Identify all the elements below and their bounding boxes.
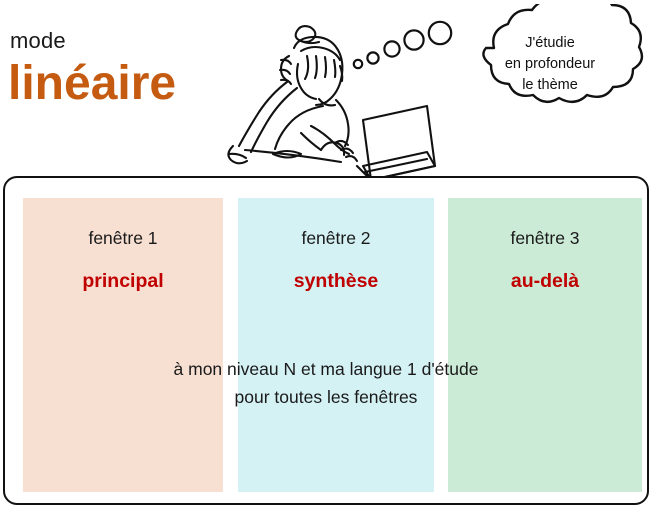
window-panel-3[interactable]: fenêtre 3 au-delà (448, 198, 642, 492)
thought-bubble-text: J'étudie en profondeur le thème (470, 33, 630, 96)
window-panel-2-label: fenêtre 2 (238, 230, 434, 248)
thought-line-2: en profondeur (470, 54, 630, 75)
window-panel-3-label: fenêtre 3 (448, 230, 642, 248)
header: mode linéaire (0, 0, 659, 176)
thought-line-1: J'étudie (470, 33, 630, 54)
thought-line-3: le thème (470, 75, 630, 96)
window-panel-3-value: au-delà (448, 272, 642, 292)
window-panel-1-label: fenêtre 1 (23, 230, 223, 248)
window-panel-1[interactable]: fenêtre 1 principal (23, 198, 223, 492)
page-eyebrow-label: mode (10, 30, 66, 52)
window-panel-1-value: principal (23, 272, 223, 292)
window-panel-2[interactable]: fenêtre 2 synthèse (238, 198, 434, 492)
windows-container: fenêtre 1 principal fenêtre 2 synthèse f… (3, 176, 649, 505)
page-title: linéaire (8, 60, 176, 108)
window-panel-2-value: synthèse (238, 272, 434, 292)
